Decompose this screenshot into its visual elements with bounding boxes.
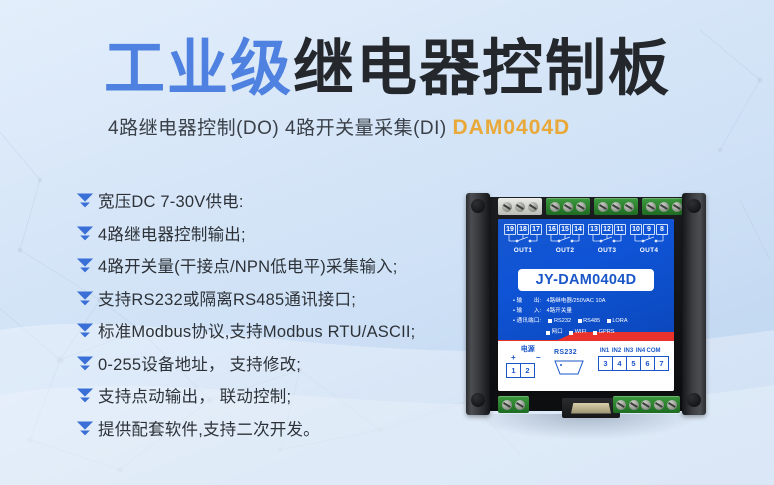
feature-text: 4路继电器控制输出; — [98, 221, 246, 245]
din-rail-right — [682, 193, 706, 415]
terminal-number: 9 — [643, 224, 655, 235]
port-label: GPRS — [599, 328, 615, 337]
terminal-number: 14 — [572, 224, 584, 235]
checkbox-icon — [607, 319, 611, 323]
mounting-hole-icon — [687, 199, 701, 213]
mounting-hole-icon — [471, 199, 485, 213]
relay-diagram-group: 19 18 17 OUT1 16 15 14 OUT2 — [504, 224, 668, 254]
product-banner: 工业级继电器控制板 4路继电器控制(DO) 4路开关量采集(DI) DAM040… — [0, 0, 774, 485]
input-terminal-group: IN1 IN2 IN3 IN4 COM 3 4 5 6 7 — [598, 347, 668, 371]
list-item: 支持RS232或隔离RS485通讯接口; — [72, 284, 472, 312]
db9-serial-connector — [562, 398, 620, 418]
terminal-block — [498, 396, 529, 413]
terminal-block — [594, 198, 638, 215]
terminal-number: 2 — [520, 363, 535, 378]
double-chevron-down-icon — [72, 415, 98, 441]
terminal-block — [546, 198, 590, 215]
terminal-number: 10 — [630, 224, 642, 235]
bullet-dot-icon: • — [513, 317, 515, 326]
list-item: 支持点动输出， 联动控制; — [72, 381, 472, 409]
checkbox-icon — [546, 331, 550, 335]
output-terminal-blocks — [498, 198, 686, 215]
bullet-dot-icon: • — [513, 297, 515, 306]
spec-label: 输 入: — [516, 307, 546, 316]
terminal-number: 19 — [504, 224, 516, 235]
terminal-number: 1 — [506, 363, 521, 378]
double-chevron-down-icon — [72, 252, 98, 278]
relay-terminal-numbers: 16 15 14 — [546, 224, 584, 235]
relay-label: OUT1 — [504, 247, 542, 254]
relay-diagram: 16 15 14 OUT2 — [546, 224, 584, 254]
spec-row-ports-2: 网口 WIFI GPRS — [513, 328, 663, 338]
relay-diagram: 13 12 11 OUT3 — [588, 224, 626, 254]
checkbox-icon — [578, 319, 582, 323]
terminal-number: 3 — [598, 356, 613, 371]
spec-value: 网口 WIFI GPRS — [546, 328, 663, 338]
checkbox-icon — [548, 319, 552, 323]
terminal-number: 4 — [612, 356, 627, 371]
feature-text: 宽压DC 7-30V供电: — [98, 188, 244, 212]
product-device-image: 19 18 17 OUT1 16 15 14 OUT2 — [466, 193, 706, 415]
db9-connector-icon — [552, 359, 586, 377]
subtitle-text: 4路继电器控制(DO) 4路开关量采集(DI) — [108, 118, 447, 139]
spec-label: 通讯端口: — [516, 317, 548, 326]
device-spec-list: • 输 出: 4路继电器/250VAC 10A • 输 入: 4路开关量 • 通… — [513, 297, 663, 340]
relay-diagram: 10 9 8 OUT4 — [630, 224, 668, 254]
feature-list: 宽压DC 7-30V供电: 4路继电器控制输出; 4路开关量(干接点/NPN低电… — [72, 186, 472, 446]
subtitle: 4路继电器控制(DO) 4路开关量采集(DI) DAM0404D — [108, 115, 570, 142]
mounting-hole-icon — [471, 393, 485, 407]
relay-label: OUT4 — [630, 247, 668, 254]
port-option: RS232 — [548, 317, 571, 326]
list-item: 4路开关量(干接点/NPN低电平)采集输入; — [72, 251, 472, 279]
spec-row-ports: • 通讯端口: RS232 RS485 LORA — [513, 317, 663, 327]
spec-label: 输 出: — [516, 297, 546, 306]
double-chevron-down-icon — [72, 285, 98, 311]
port-option: GPRS — [593, 328, 614, 337]
port-label: WIFI — [575, 328, 587, 337]
power-terminal-group: 电源 + − 1 2 — [506, 345, 550, 378]
input-terminal-blocks — [498, 396, 529, 413]
feature-text: 4路开关量(干接点/NPN低电平)采集输入; — [98, 253, 398, 277]
spec-row-input: • 输 入: 4路开关量 — [513, 307, 663, 316]
terminal-number: 12 — [601, 224, 613, 235]
port-label: 网口 — [552, 328, 563, 337]
spec-row-output: • 输 出: 4路继电器/250VAC 10A — [513, 297, 663, 306]
relay-diagram: 19 18 17 OUT1 — [504, 224, 542, 254]
terminal-block — [613, 396, 680, 413]
feature-text: 标准Modbus协议,支持Modbus RTU/ASCII; — [98, 318, 415, 342]
relay-label: OUT3 — [588, 247, 626, 254]
double-chevron-down-icon — [72, 187, 98, 213]
terminal-block — [642, 198, 686, 215]
spec-value: 4路开关量 — [546, 307, 663, 316]
page-title: 工业级继电器控制板 — [104, 33, 671, 103]
terminal-number: 6 — [640, 356, 655, 371]
port-label: RS485 — [583, 317, 600, 326]
port-option: LORA — [607, 317, 628, 326]
feature-text: 0-255设备地址， 支持修改; — [98, 351, 301, 375]
serial-port-label: RS232 — [554, 349, 577, 356]
double-chevron-down-icon — [72, 382, 98, 408]
device-bottom-panel: 电源 + − 1 2 RS232 IN1 IN2 IN3 IN4 COM — [498, 343, 674, 391]
checkbox-icon — [593, 331, 597, 335]
headline-accent: 工业级 — [104, 34, 293, 102]
feature-text: 支持RS232或隔离RS485通讯接口; — [98, 286, 356, 310]
input-header: COM — [646, 347, 661, 355]
terminal-number: 15 — [559, 224, 571, 235]
terminal-number: 11 — [614, 224, 626, 235]
list-item: 宽压DC 7-30V供电: — [72, 186, 472, 214]
list-item: 0-255设备地址， 支持修改; — [72, 349, 472, 377]
feature-text: 支持点动输出， 联动控制; — [98, 383, 291, 407]
terminal-number: 7 — [654, 356, 669, 371]
input-terminal-blocks-right — [613, 396, 680, 413]
device-front-panel: 19 18 17 OUT1 16 15 14 OUT2 — [498, 219, 674, 391]
device-model-badge: JY-DAM0404D — [518, 269, 654, 291]
power-polarity: + − — [506, 354, 550, 362]
relay-terminal-numbers: 19 18 17 — [504, 224, 542, 235]
headline-main: 继电器控制板 — [293, 34, 671, 102]
power-terminal-numbers: 1 2 — [506, 363, 550, 378]
terminal-number: 18 — [517, 224, 529, 235]
checkbox-icon — [569, 331, 573, 335]
terminal-number: 5 — [626, 356, 641, 371]
relay-terminal-numbers: 13 12 11 — [588, 224, 626, 235]
spec-value: RS232 RS485 LORA — [548, 317, 663, 327]
terminal-number: 17 — [530, 224, 542, 235]
terminal-number: 16 — [546, 224, 558, 235]
list-item: 标准Modbus协议,支持Modbus RTU/ASCII; — [72, 316, 472, 344]
mounting-hole-icon — [687, 393, 701, 407]
list-item: 4路继电器控制输出; — [72, 219, 472, 247]
port-option: 网口 — [546, 328, 563, 337]
bullet-dot-icon: • — [513, 307, 515, 316]
terminal-block — [498, 198, 542, 215]
port-option: WIFI — [569, 328, 586, 337]
feature-text: 提供配套软件,支持二次开发。 — [98, 416, 320, 440]
input-headers: IN1 IN2 IN3 IN4 COM — [598, 347, 668, 355]
terminal-number: 8 — [656, 224, 668, 235]
spec-value: 4路继电器/250VAC 10A — [546, 297, 663, 306]
model-name: DAM0404D — [453, 116, 571, 139]
input-terminal-numbers: 3 4 5 6 7 — [598, 356, 668, 371]
port-option: RS485 — [578, 317, 601, 326]
port-label: RS232 — [554, 317, 571, 326]
double-chevron-down-icon — [72, 317, 98, 343]
terminal-number: 13 — [588, 224, 600, 235]
double-chevron-down-icon — [72, 350, 98, 376]
double-chevron-down-icon — [72, 220, 98, 246]
list-item: 提供配套软件,支持二次开发。 — [72, 414, 472, 442]
port-label: LORA — [612, 317, 627, 326]
device-model-text: JY-DAM0404D — [536, 272, 637, 288]
din-rail-left — [466, 193, 490, 415]
relay-label: OUT2 — [546, 247, 584, 254]
relay-terminal-numbers: 10 9 8 — [630, 224, 668, 235]
